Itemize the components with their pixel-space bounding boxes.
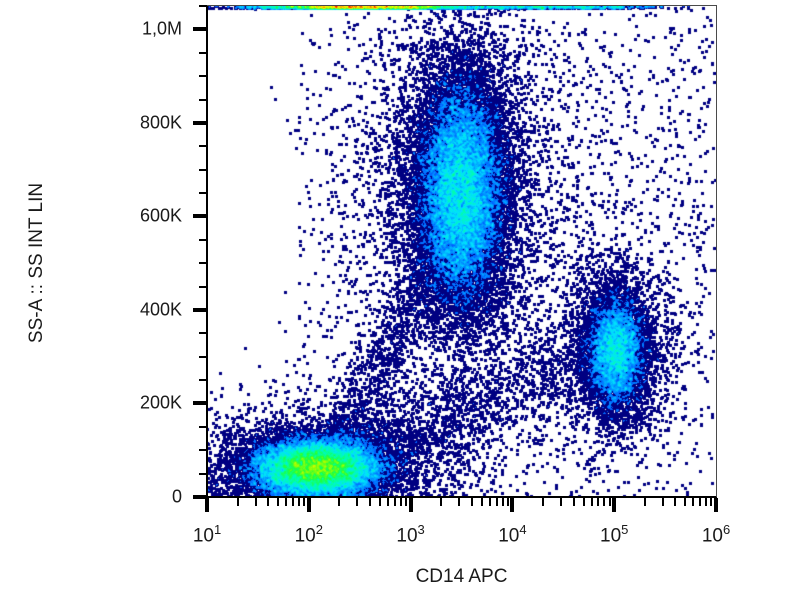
y-tick-minor	[199, 449, 207, 451]
y-tick-minor	[199, 75, 207, 77]
x-tick-label: 104	[498, 522, 526, 547]
y-tick-major	[193, 121, 207, 125]
x-tick-minor	[267, 498, 269, 506]
x-tick-minor	[292, 498, 294, 506]
y-tick-major	[193, 27, 207, 31]
x-tick-minor	[298, 498, 300, 506]
x-tick-label-base: 10	[702, 525, 723, 546]
y-tick-minor	[199, 332, 207, 334]
x-tick-minor	[502, 498, 504, 506]
x-tick-label-exponent: 5	[621, 522, 628, 537]
y-tick-minor	[199, 426, 207, 428]
x-tick-minor	[583, 498, 585, 506]
x-tick-minor	[542, 498, 544, 506]
x-tick-minor	[255, 498, 257, 506]
y-tick-major	[193, 308, 207, 312]
y-tick-label: 800K	[140, 112, 182, 133]
x-tick-label-base: 10	[193, 525, 214, 546]
y-tick-minor	[199, 356, 207, 358]
x-tick-minor	[303, 498, 305, 506]
x-tick-minor	[440, 498, 442, 506]
x-tick-minor	[573, 498, 575, 506]
y-tick-minor	[199, 262, 207, 264]
y-tick-minor	[199, 379, 207, 381]
x-tick-major	[510, 498, 514, 512]
x-tick-label: 103	[396, 522, 424, 547]
x-tick-minor	[644, 498, 646, 506]
y-tick-minor	[199, 192, 207, 194]
scatter-plot-area	[207, 6, 716, 497]
x-tick-minor	[277, 498, 279, 506]
x-tick-label-exponent: 4	[519, 522, 526, 537]
x-tick-minor	[662, 498, 664, 506]
x-tick-major	[307, 498, 311, 512]
x-tick-major	[205, 498, 209, 512]
x-tick-label: 105	[600, 522, 628, 547]
y-tick-minor	[199, 169, 207, 171]
x-tick-label-exponent: 1	[214, 522, 221, 537]
x-tick-minor	[285, 498, 287, 506]
x-tick-minor	[458, 498, 460, 506]
plot-frame-top	[207, 5, 717, 6]
x-tick-major	[714, 498, 718, 512]
x-tick-minor	[237, 498, 239, 506]
y-tick-minor	[199, 52, 207, 54]
y-axis-title: SS-A :: SS INT LIN	[26, 133, 48, 393]
x-tick-minor	[338, 498, 340, 506]
y-tick-label: 1,0M	[142, 19, 182, 40]
x-tick-minor	[597, 498, 599, 506]
y-tick-minor	[199, 145, 207, 147]
x-tick-minor	[710, 498, 712, 506]
x-tick-minor	[369, 498, 371, 506]
y-tick-minor	[199, 99, 207, 101]
dot-plot-canvas	[207, 6, 716, 497]
plot-frame-right	[716, 6, 717, 497]
x-tick-minor	[471, 498, 473, 506]
x-tick-minor	[591, 498, 593, 506]
x-tick-minor	[489, 498, 491, 506]
x-axis-title: CD14 APC	[207, 566, 716, 588]
y-tick-major	[193, 214, 207, 218]
x-tick-minor	[674, 498, 676, 506]
x-tick-minor	[356, 498, 358, 506]
y-axis-tick-labels: 0200K400K600K800K1,0M	[110, 0, 182, 600]
x-tick-minor	[379, 498, 381, 506]
x-tick-label-base: 10	[498, 525, 519, 546]
x-tick-minor	[496, 498, 498, 506]
x-tick-label: 106	[702, 522, 730, 547]
y-tick-minor	[199, 239, 207, 241]
x-tick-label-exponent: 3	[418, 522, 425, 537]
x-tick-minor	[405, 498, 407, 506]
flow-cytometry-figure: 0200K400K600K800K1,0M 101102103104105106…	[0, 0, 800, 600]
y-tick-label: 400K	[140, 299, 182, 320]
x-tick-major	[612, 498, 616, 512]
y-tick-minor	[199, 473, 207, 475]
x-tick-label: 101	[193, 522, 221, 547]
y-tick-minor	[199, 5, 207, 7]
x-tick-minor	[560, 498, 562, 506]
x-tick-minor	[603, 498, 605, 506]
x-tick-minor	[507, 498, 509, 506]
y-tick-label: 200K	[140, 393, 182, 414]
x-tick-major	[409, 498, 413, 512]
x-tick-label-base: 10	[600, 525, 621, 546]
x-tick-minor	[705, 498, 707, 506]
x-tick-minor	[400, 498, 402, 506]
x-tick-minor	[394, 498, 396, 506]
x-tick-label: 102	[295, 522, 323, 547]
y-tick-label: 600K	[140, 206, 182, 227]
x-tick-minor	[609, 498, 611, 506]
x-tick-label-base: 10	[396, 525, 417, 546]
y-tick-label: 0	[172, 487, 182, 508]
x-tick-minor	[481, 498, 483, 506]
x-tick-minor	[692, 498, 694, 506]
x-tick-minor	[684, 498, 686, 506]
x-tick-minor	[699, 498, 701, 506]
y-tick-major	[193, 401, 207, 405]
x-tick-minor	[387, 498, 389, 506]
x-tick-label-base: 10	[295, 525, 316, 546]
x-axis-tick-labels: 101102103104105106	[0, 522, 800, 558]
x-tick-label-exponent: 2	[316, 522, 323, 537]
x-tick-label-exponent: 6	[723, 522, 730, 537]
y-tick-minor	[199, 286, 207, 288]
